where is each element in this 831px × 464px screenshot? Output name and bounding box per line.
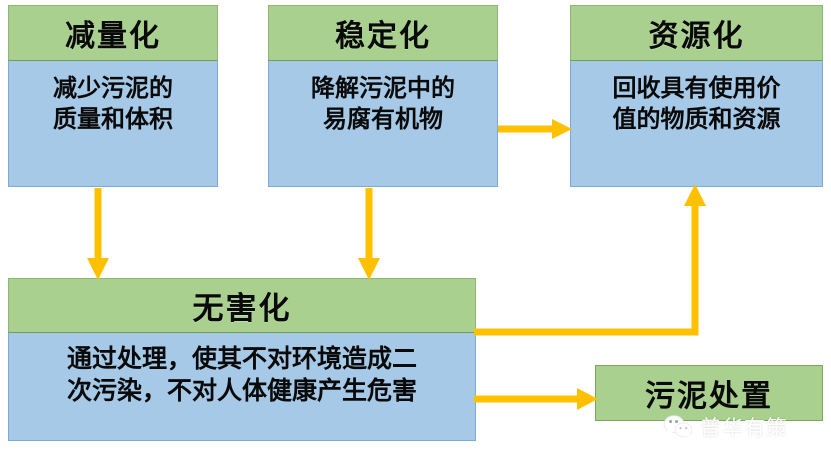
node-disposal[interactable]: 污泥处置 (595, 365, 823, 421)
edge-stabilization-to-resource (498, 112, 572, 146)
node-stabilization-body: 降解污泥中的 易腐有机物 (269, 61, 497, 186)
arrow-right-icon (498, 119, 572, 139)
node-reduction[interactable]: 减量化 减少污泥的 质量和体积 (8, 5, 218, 187)
edge-harmless-to-disposal (474, 382, 598, 416)
node-reduction-header: 减量化 (8, 5, 218, 61)
arrow-down-icon (358, 188, 380, 280)
node-resource-header: 资源化 (570, 5, 823, 61)
node-stabilization-header: 稳定化 (268, 5, 498, 61)
arrow-right-icon (474, 388, 598, 410)
node-reduction-body: 减少污泥的 质量和体积 (9, 61, 217, 186)
edge-stabilization-to-harmless (349, 188, 389, 280)
node-resource-body: 回收具有使用价 值的物质和资源 (571, 61, 822, 186)
node-resource[interactable]: 资源化 回收具有使用价 值的物质和资源 (570, 5, 823, 187)
arrow-down-icon (87, 188, 109, 280)
edge-harmless-to-resource (474, 184, 700, 336)
diagram-canvas: 减量化 减少污泥的 质量和体积 稳定化 降解污泥中的 易腐有机物 资源化 回收具… (0, 0, 831, 464)
node-harmless-body: 通过处理，使其不对环境造成二 次污染，不对人体健康产生危害 (9, 333, 475, 440)
node-harmless[interactable]: 无害化 通过处理，使其不对环境造成二 次污染，不对人体健康产生危害 (8, 278, 476, 441)
node-disposal-label: 污泥处置 (645, 371, 773, 415)
edge-reduction-to-harmless (78, 188, 118, 280)
arrow-up-icon (474, 184, 706, 332)
node-stabilization[interactable]: 稳定化 降解污泥中的 易腐有机物 (268, 5, 498, 187)
node-harmless-header: 无害化 (8, 278, 476, 333)
